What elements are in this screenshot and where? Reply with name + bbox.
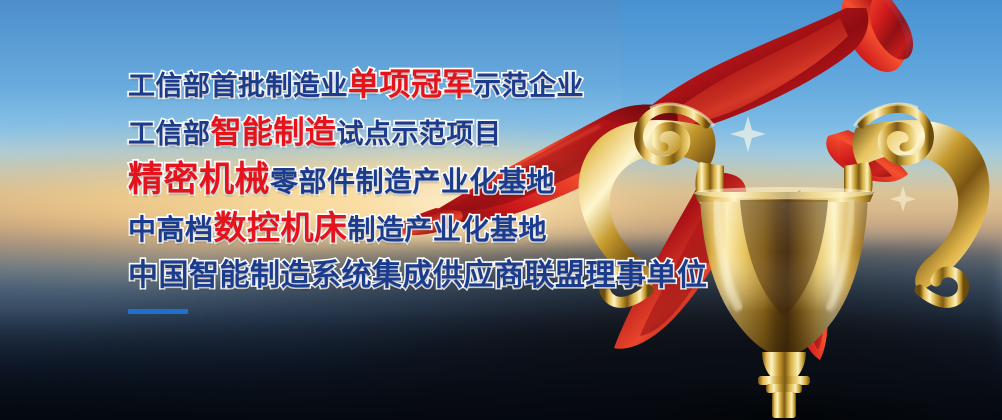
ground-fade-overlay [0,311,1002,420]
line4-segment-2: 数控机床 [214,208,348,247]
line2-segment-2: 智能制造 [211,115,337,151]
line1-segment-3: 示范企业 [474,71,584,102]
line1-segment-1: 工信部首批制造业 [128,71,348,102]
accent-underline-bar [128,309,188,314]
hero-banner: 工信部首批制造业单项冠军示范企业 工信部智能制造试点示范项目 精密机械零部件制造… [0,0,1002,420]
line1-segment-2: 单项冠军 [348,67,474,103]
line4-segment-1: 中高档 [128,213,214,246]
line3-segment-2: 零部件制造产业化基地 [270,165,555,198]
headline-line-3: 精密机械零部件制造产业化基地 [128,163,768,198]
line5-segment-1: 中国智能制造系统集成供应商联盟理事单位 [128,258,708,293]
line2-segment-1: 工信部 [128,119,211,150]
line2-segment-3: 试点示范项目 [337,119,502,150]
headline-copy: 工信部首批制造业单项冠军示范企业 工信部智能制造试点示范项目 精密机械零部件制造… [128,70,768,291]
headline-line-4: 中高档数控机床制造产业化基地 [128,211,768,244]
line3-segment-1: 精密机械 [128,160,270,200]
headline-line-2: 工信部智能制造试点示范项目 [128,118,768,149]
headline-line-1: 工信部首批制造业单项冠军示范企业 [128,70,768,101]
headline-line-5: 中国智能制造系统集成供应商联盟理事单位 [128,261,768,291]
line4-segment-3: 制造产业化基地 [348,213,548,246]
